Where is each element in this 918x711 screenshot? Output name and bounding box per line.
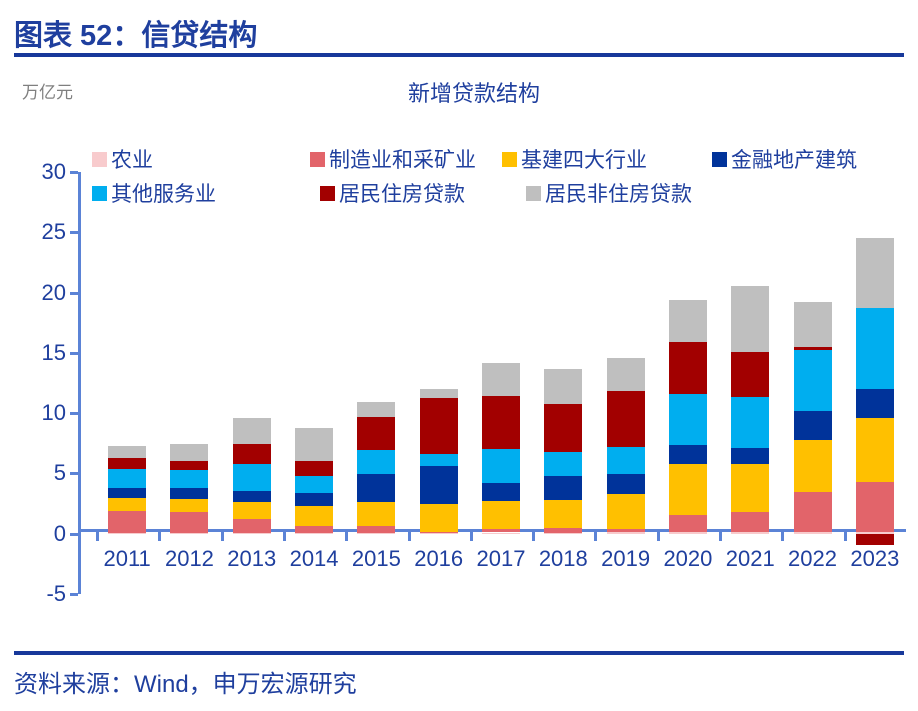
bar-segment[interactable] <box>295 506 333 526</box>
bar-segment[interactable] <box>108 446 146 458</box>
bar-segment[interactable] <box>731 397 769 448</box>
bar-segment[interactable] <box>856 534 894 545</box>
bar-group[interactable] <box>731 172 769 594</box>
x-axis-tick <box>470 532 473 541</box>
bar-segment[interactable] <box>794 350 832 411</box>
bar-segment[interactable] <box>233 519 271 533</box>
bar-segment[interactable] <box>482 533 520 534</box>
bar-segment[interactable] <box>794 302 832 347</box>
x-axis-label: 2013 <box>227 546 276 572</box>
bar-segment[interactable] <box>357 502 395 526</box>
legend-item[interactable]: 金融地产建筑 <box>712 144 857 174</box>
bar-segment[interactable] <box>607 494 645 528</box>
bar-segment[interactable] <box>731 352 769 397</box>
bar-segment[interactable] <box>607 391 645 447</box>
x-axis-tick <box>96 532 99 541</box>
bar-segment[interactable] <box>544 452 582 477</box>
bar-group[interactable] <box>607 172 645 594</box>
bar-segment[interactable] <box>669 464 707 515</box>
figure-title: 图表 52：信贷结构 <box>14 12 257 54</box>
y-axis-label: 25 <box>42 219 66 245</box>
bar-segment[interactable] <box>669 515 707 532</box>
y-axis-tick <box>70 593 78 596</box>
bar-group[interactable] <box>420 172 458 594</box>
bar-segment[interactable] <box>731 512 769 532</box>
x-axis-label: 2014 <box>290 546 339 572</box>
y-axis-tick <box>70 472 78 475</box>
x-axis-label: 2022 <box>788 546 837 572</box>
x-axis-label: 2020 <box>663 546 712 572</box>
legend-item[interactable]: 制造业和采矿业 <box>310 144 476 174</box>
bar-segment[interactable] <box>856 418 894 483</box>
bar-segment[interactable] <box>108 498 146 511</box>
bar-group[interactable] <box>170 172 208 594</box>
bar-segment[interactable] <box>482 501 520 529</box>
bar-segment[interactable] <box>108 469 146 488</box>
bar-segment[interactable] <box>108 488 146 498</box>
bar-segment[interactable] <box>482 449 520 483</box>
bar-segment[interactable] <box>295 493 333 506</box>
y-axis-tick <box>70 171 78 174</box>
bar-segment[interactable] <box>544 369 582 404</box>
x-axis-tick <box>408 532 411 541</box>
y-axis-label: 5 <box>54 460 66 486</box>
x-axis-label: 2023 <box>850 546 899 572</box>
bar-segment[interactable] <box>544 533 582 534</box>
bar-group[interactable] <box>794 172 832 594</box>
bar-segment[interactable] <box>607 532 645 533</box>
bar-segment[interactable] <box>731 448 769 464</box>
bar-segment[interactable] <box>357 533 395 534</box>
bar-group[interactable] <box>108 172 146 594</box>
x-axis-label: 2017 <box>477 546 526 572</box>
legend-row: 农业制造业和采矿业基建四大行业金融地产建筑 <box>92 142 912 176</box>
bar-segment[interactable] <box>669 532 707 533</box>
bar-segment[interactable] <box>233 533 271 534</box>
bar-segment[interactable] <box>731 286 769 352</box>
bar-segment[interactable] <box>794 411 832 440</box>
legend-label: 制造业和采矿业 <box>329 144 476 174</box>
x-axis-label: 2016 <box>414 546 463 572</box>
bar-segment[interactable] <box>295 476 333 493</box>
x-axis-tick <box>719 532 722 541</box>
footer-divider <box>14 651 904 655</box>
x-axis-label: 2019 <box>601 546 650 572</box>
bar-segment[interactable] <box>170 512 208 533</box>
x-axis-tick <box>594 532 597 541</box>
bar-segment[interactable] <box>233 502 271 519</box>
bar-segment[interactable] <box>357 526 395 533</box>
bar-segment[interactable] <box>357 417 395 450</box>
y-axis-tick <box>70 352 78 355</box>
bar-segment[interactable] <box>856 308 894 389</box>
x-axis-tick <box>657 532 660 541</box>
x-axis-tick <box>221 532 224 541</box>
bar-segment[interactable] <box>420 398 458 454</box>
bar-group[interactable] <box>544 172 582 594</box>
bar-segment[interactable] <box>794 347 832 349</box>
legend-item[interactable]: 基建四大行业 <box>502 144 647 174</box>
x-axis-label: 2011 <box>103 546 150 572</box>
legend-item[interactable]: 农业 <box>92 144 153 174</box>
chart-title: 新增贷款结构 <box>0 76 918 108</box>
bar-segment[interactable] <box>669 300 707 342</box>
bar-segment[interactable] <box>794 492 832 532</box>
bar-segment[interactable] <box>420 504 458 531</box>
bar-segment[interactable] <box>357 474 395 502</box>
bar-segment[interactable] <box>233 491 271 502</box>
bar-segment[interactable] <box>357 402 395 417</box>
bar-segment[interactable] <box>108 533 146 534</box>
bar-segment[interactable] <box>233 418 271 443</box>
x-axis-label: 2018 <box>539 546 588 572</box>
y-axis-label: 20 <box>42 280 66 306</box>
bar-segment[interactable] <box>295 428 333 461</box>
x-axis-tick <box>532 532 535 541</box>
bar-segment[interactable] <box>544 404 582 452</box>
bar-segment[interactable] <box>856 482 894 531</box>
bar-segment[interactable] <box>170 533 208 534</box>
plot-area: -505101520253020112012201320142015201620… <box>78 172 906 594</box>
bar-segment[interactable] <box>482 529 520 532</box>
legend-swatch-icon <box>712 152 727 167</box>
bar-segment[interactable] <box>357 450 395 474</box>
bar-segment[interactable] <box>420 466 458 504</box>
x-axis-tick <box>345 532 348 541</box>
bar-segment[interactable] <box>233 444 271 464</box>
bar-segment[interactable] <box>794 440 832 491</box>
bar-group[interactable] <box>669 172 707 594</box>
bar-segment[interactable] <box>108 511 146 533</box>
x-axis-tick <box>844 532 847 541</box>
bar-segment[interactable] <box>669 394 707 445</box>
legend-swatch-icon <box>502 152 517 167</box>
bar-segment[interactable] <box>856 389 894 418</box>
bar-segment[interactable] <box>420 454 458 467</box>
bar-segment[interactable] <box>233 464 271 491</box>
bar-segment[interactable] <box>731 532 769 534</box>
legend-label: 基建四大行业 <box>521 144 647 174</box>
source-note: 资料来源：Wind，申万宏源研究 <box>14 664 357 699</box>
bar-segment[interactable] <box>420 389 458 398</box>
x-axis-tick <box>283 532 286 541</box>
bar-segment[interactable] <box>669 342 707 394</box>
bar-segment[interactable] <box>170 444 208 461</box>
bar-group[interactable] <box>482 172 520 594</box>
bar-segment[interactable] <box>607 529 645 533</box>
x-axis-tick <box>158 532 161 541</box>
bar-segment[interactable] <box>544 528 582 532</box>
bar-group[interactable] <box>357 172 395 594</box>
bar-segment[interactable] <box>295 461 333 476</box>
x-axis-label: 2012 <box>165 546 214 572</box>
y-axis-label: 10 <box>42 400 66 426</box>
y-axis-tick <box>70 533 78 536</box>
legend-label: 金融地产建筑 <box>731 144 857 174</box>
bar-segment[interactable] <box>170 461 208 470</box>
bar-segment[interactable] <box>669 445 707 464</box>
header-divider <box>14 53 904 57</box>
bar-group[interactable] <box>856 172 894 594</box>
bar-segment[interactable] <box>420 533 458 534</box>
bar-segment[interactable] <box>108 458 146 468</box>
bar-segment[interactable] <box>856 238 894 309</box>
bar-segment[interactable] <box>170 499 208 512</box>
bar-segment[interactable] <box>607 447 645 474</box>
x-axis-tick <box>781 532 784 541</box>
bar-segment[interactable] <box>482 396 520 448</box>
x-axis-label: 2015 <box>352 546 401 572</box>
x-axis-label: 2021 <box>726 546 775 572</box>
bar-segment[interactable] <box>170 488 208 499</box>
legend-swatch-icon <box>310 152 325 167</box>
bar-segment[interactable] <box>544 476 582 500</box>
bar-segment[interactable] <box>295 526 333 533</box>
y-axis-tick <box>70 412 78 415</box>
bar-segment[interactable] <box>482 363 520 396</box>
legend-swatch-icon <box>92 152 107 167</box>
bar-segment[interactable] <box>731 464 769 512</box>
y-axis-label: 30 <box>42 159 66 185</box>
y-axis-tick <box>70 231 78 234</box>
bar-segment[interactable] <box>295 533 333 534</box>
bar-group[interactable] <box>233 172 271 594</box>
y-axis-tick <box>70 292 78 295</box>
bar-segment[interactable] <box>482 483 520 501</box>
y-axis-label: -5 <box>46 581 66 607</box>
bar-segment[interactable] <box>607 474 645 494</box>
bar-segment[interactable] <box>170 470 208 488</box>
bar-segment[interactable] <box>794 532 832 534</box>
y-axis-label: 15 <box>42 340 66 366</box>
figure-container: 图表 52：信贷结构 万亿元 新增贷款结构 农业制造业和采矿业基建四大行业金融地… <box>0 0 918 711</box>
y-axis-label: 0 <box>54 521 66 547</box>
bar-segment[interactable] <box>544 500 582 528</box>
legend-label: 农业 <box>111 144 153 174</box>
bar-group[interactable] <box>295 172 333 594</box>
bar-segment[interactable] <box>420 532 458 533</box>
bar-segment[interactable] <box>607 358 645 391</box>
